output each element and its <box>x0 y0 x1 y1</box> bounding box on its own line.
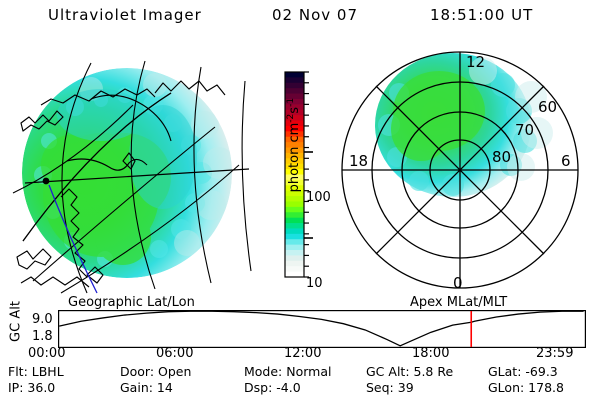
observation-date: 02 Nov 07 <box>272 6 358 24</box>
colorbar-unit-exp1: -2 <box>286 114 296 123</box>
orbit-altitude-chart <box>58 310 586 348</box>
status-seq: Seq: 39 <box>366 380 414 395</box>
mlt-label-6: 6 <box>561 152 571 170</box>
status-gc-alt: GC Alt: 5.8 Re <box>366 364 453 379</box>
colorbar-tick-label-100: 100 <box>306 190 331 205</box>
header-bar: Ultraviolet Imager 02 Nov 07 18:51:00 UT <box>0 6 600 32</box>
colorbar-axis-title: photon cm-2s-1 <box>286 65 302 225</box>
orbit-x-tick-0: 00:00 <box>28 346 65 361</box>
mlat-label-80: 80 <box>492 148 511 166</box>
geographic-plot <box>5 45 255 295</box>
orbit-x-tick-4: 23:59 <box>536 346 573 361</box>
orbit-x-tick-1: 06:00 <box>156 346 193 361</box>
orbit-y-tick-high: 9.0 <box>32 312 53 327</box>
colorbar-swatch <box>285 245 304 251</box>
colorbar-swatch <box>285 266 304 272</box>
status-glat: GLat: -69.3 <box>488 364 558 379</box>
colorbar-tick-label-10: 10 <box>306 276 323 291</box>
mlt-label-12: 12 <box>466 53 485 71</box>
mlt-label-0: 0 <box>453 274 463 292</box>
status-footer: Flt: LBHL Door: Open Mode: Normal GC Alt… <box>0 364 600 398</box>
colorbar-panel: photon cm-2s-1 100 10 <box>258 45 338 295</box>
geographic-panel-caption: Geographic Lat/Lon <box>68 295 195 310</box>
mlt-spokes <box>342 52 578 288</box>
colorbar-unit-mid: s <box>287 107 302 114</box>
instrument-title: Ultraviolet Imager <box>48 6 202 24</box>
orbit-x-tick-2: 12:00 <box>284 346 321 361</box>
colorbar-swatch <box>285 250 304 256</box>
mlat-label-70: 70 <box>515 121 534 139</box>
colorbar-swatch <box>285 234 304 240</box>
status-filter: Flt: LBHL <box>8 364 64 379</box>
status-mode: Mode: Normal <box>244 364 331 379</box>
orbit-y-tick-low: 1.8 <box>32 329 53 344</box>
mlt-label-18: 18 <box>349 152 368 170</box>
polar-plot: 12 6 0 18 60 70 80 <box>335 45 595 300</box>
orbit-y-axis-label: GC Alt <box>9 292 24 352</box>
colorbar-swatch <box>285 228 304 234</box>
colorbar-swatch <box>285 261 304 267</box>
geographic-image-panel <box>5 45 255 295</box>
pole-marker <box>43 178 50 185</box>
status-glon: GLon: 178.8 <box>488 380 564 395</box>
colorbar-ticks <box>304 72 313 277</box>
status-ip: IP: 36.0 <box>8 380 55 395</box>
orbit-x-tick-3: 18:00 <box>412 346 449 361</box>
status-gain: Gain: 14 <box>120 380 173 395</box>
status-door: Door: Open <box>120 364 191 379</box>
colorbar-swatch <box>285 255 304 261</box>
status-dsp: Dsp: -4.0 <box>244 380 301 395</box>
polar-panel-caption: Apex MLat/MLT <box>410 295 507 310</box>
colorbar-unit-main: photon cm <box>287 123 302 193</box>
mlat-label-60: 60 <box>538 98 557 116</box>
uvi-screenshot-root: Ultraviolet Imager 02 Nov 07 18:51:00 UT <box>0 0 600 400</box>
polar-dial-panel: 12 6 0 18 60 70 80 <box>335 45 595 300</box>
colorbar-unit-exp2: -1 <box>286 98 296 107</box>
observation-time: 18:51:00 UT <box>430 6 533 24</box>
colorbar-swatch <box>285 239 304 245</box>
orbit-altitude-panel: Geographic Lat/Lon Apex MLat/MLT GC Alt … <box>0 296 600 358</box>
